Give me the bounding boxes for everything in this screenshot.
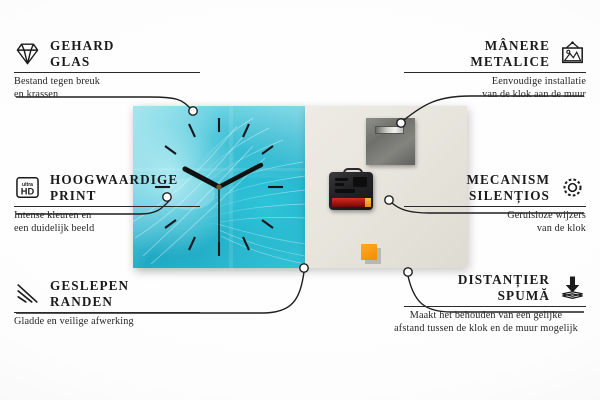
connector-dot [397, 119, 405, 127]
feature-title: GESLEPEN RANDEN [50, 278, 129, 309]
beveled-edges-icon [14, 280, 41, 307]
feature-header: MÂNERE METALICE [404, 38, 586, 69]
connector-dot [385, 196, 393, 204]
feature-beveled-edges: GESLEPEN RANDEN Gladde en veilige afwerk… [14, 278, 200, 329]
feature-foam-spacer: DISTANȚIER SPUMĂ Maakt het behouden van … [404, 272, 586, 335]
feature-description: Geruisloze wijzers van de klok [404, 210, 586, 235]
feature-header: GESLEPEN RANDEN [14, 278, 200, 309]
arrow-down-into-layers-icon [559, 274, 586, 301]
divider [14, 312, 200, 313]
feature-high-quality-print: ultra HD HOOGWAARDIGE PRINT Intense kleu… [14, 172, 200, 235]
feature-header: DISTANȚIER SPUMĂ [404, 272, 586, 303]
feature-description: Bestand tegen breuk en krassen [14, 76, 200, 101]
feature-title: MECANISM SILENȚIOS [466, 172, 550, 203]
feature-title: MÂNERE METALICE [470, 38, 550, 69]
feature-title: HOOGWAARDIGE PRINT [50, 172, 178, 203]
svg-text:HD: HD [21, 187, 35, 197]
feature-header: GEHARD GLAS [14, 38, 200, 69]
picture-frame-hanging-icon [559, 40, 586, 67]
divider [14, 206, 200, 207]
gear-icon [559, 174, 586, 201]
connector-dot [189, 107, 197, 115]
ultra-hd-badge-icon: ultra HD [14, 174, 41, 201]
feature-description: Maakt het behouden van een gelijke afsta… [386, 310, 586, 335]
feature-description: Intense kleuren en een duidelijk beeld [14, 210, 200, 235]
feature-description: Eenvoudige installatie van de klok aan d… [404, 76, 586, 101]
feature-tempered-glass: GEHARD GLAS Bestand tegen breuk en krass… [14, 38, 200, 101]
feature-description: Gladde en veilige afwerking [14, 316, 200, 329]
feature-silent-mechanism: MECANISM SILENȚIOS Geruisloze wijzers va… [404, 172, 586, 235]
divider [404, 306, 586, 307]
feature-header: MECANISM SILENȚIOS [404, 172, 586, 203]
divider [14, 72, 200, 73]
divider [404, 72, 586, 73]
connector-dot [300, 264, 308, 272]
feature-metal-handles: MÂNERE METALICE Eenvoudige installatie v… [404, 38, 586, 101]
divider [404, 206, 586, 207]
feature-title: DISTANȚIER SPUMĂ [458, 272, 550, 303]
feature-header: ultra HD HOOGWAARDIGE PRINT [14, 172, 200, 203]
diamond-icon [14, 40, 41, 67]
feature-title: GEHARD GLAS [50, 38, 114, 69]
infographic-page: GEHARD GLAS Bestand tegen breuk en krass… [0, 0, 600, 400]
